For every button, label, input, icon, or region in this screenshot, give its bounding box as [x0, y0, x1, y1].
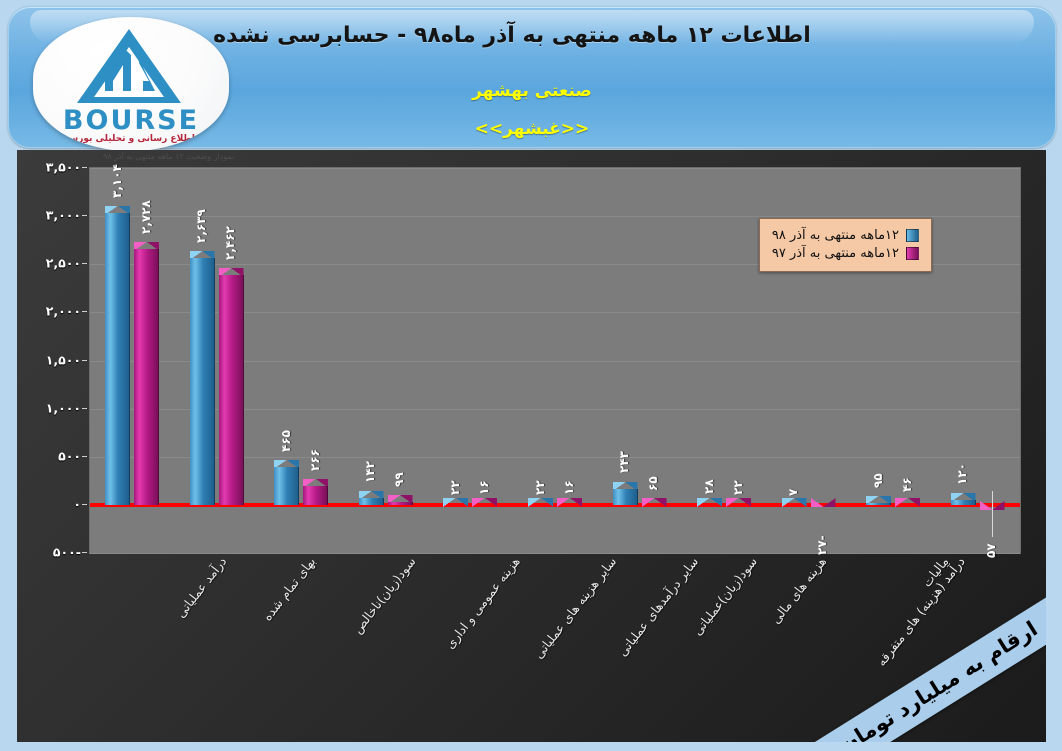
company-name: صنعتی بهشهر	[9, 81, 1055, 101]
bar-body	[219, 275, 244, 505]
bar-body	[613, 489, 638, 505]
bar[interactable]	[726, 498, 751, 505]
y-axis-tick-label: ۱,۰۰۰	[46, 400, 81, 415]
bar-value-label: ۴۶	[900, 478, 914, 493]
x-axis-tick-label: سایر درآمدهای عملیاتی	[615, 554, 702, 659]
bar-cap	[557, 498, 582, 507]
bar[interactable]	[443, 498, 468, 505]
legend-swatch-magenta-icon	[906, 247, 919, 260]
bar-value-label: ۱۶	[562, 481, 576, 496]
legend-item-series-98[interactable]: ۱۲ماهه منتهی به آذر ۹۸	[772, 228, 919, 243]
bar-value-label: ۲۴۳	[617, 452, 631, 474]
y-axis-tick-label: ۳,۰۰۰	[46, 208, 81, 223]
x-axis-tick-label: سایر هزینه های عملیاتی	[531, 554, 619, 661]
y-axis-tick-label: ۱,۵۰۰	[46, 352, 81, 367]
bar-value-label: -۲۷	[815, 536, 829, 556]
bar-value-label: ۲۸	[702, 480, 716, 495]
y-axis-tick	[82, 456, 87, 457]
y-axis-tick	[82, 215, 87, 216]
x-axis-tick-label: هزینه های مالی	[768, 554, 829, 627]
bar[interactable]	[528, 498, 553, 505]
legend-swatch-blue-icon	[906, 229, 919, 242]
bar[interactable]	[811, 500, 836, 507]
bar[interactable]	[134, 242, 159, 505]
x-axis-tick-label: بهای تمام شده	[259, 554, 318, 624]
bar[interactable]	[274, 460, 299, 505]
page-title: اطلاعات ۱۲ ماهه منتهی به آذر ماه۹۸ - حسا…	[9, 23, 1055, 48]
y-axis-tick-label: ۲,۰۰۰	[46, 304, 81, 319]
legend-label-series-97: ۱۲ماهه منتهی به آذر ۹۷	[772, 246, 899, 261]
bar[interactable]	[613, 482, 638, 505]
y-axis-tick-label: ۳,۵۰۰	[46, 160, 81, 175]
bar-value-label: ۲۶۶	[308, 449, 322, 471]
bar-cap	[697, 498, 722, 507]
bar[interactable]	[105, 206, 130, 505]
y-axis-tick-label: ۰	[73, 496, 81, 511]
bar-value-label: ۳,۱۰۴	[110, 164, 124, 198]
legend-item-series-97[interactable]: ۱۲ماهه منتهی به آذر ۹۷	[772, 246, 919, 261]
bar-value-label: ۲۲	[731, 480, 745, 495]
bar[interactable]	[388, 495, 413, 505]
bar-cap	[811, 498, 836, 507]
y-axis-tick	[82, 360, 87, 361]
x-axis-tick-label: سود(زیان)ناخالص	[350, 554, 419, 636]
x-axis-tick-label: درآمد (هزینه) های متفرقه	[873, 554, 967, 669]
bar-body	[105, 213, 130, 505]
plot-area: ۳,۱۰۴۲,۷۲۸۲,۶۳۹۲,۴۶۲۴۶۵۲۶۶۱۴۲۹۹۲۲۱۶۲۲۱۶۲…	[89, 167, 1021, 554]
y-axis-tick-label: -۵۰۰	[53, 545, 81, 560]
bar-body	[866, 503, 891, 505]
bar-value-label: ۹۹	[392, 473, 406, 488]
bar-cap	[895, 498, 920, 507]
y-axis-tick	[82, 167, 87, 168]
bar[interactable]	[697, 498, 722, 505]
y-axis-tick-label: ۲,۵۰۰	[46, 256, 81, 271]
bar-value-label: ۱۴۲	[363, 461, 377, 483]
bar-cap	[642, 498, 667, 507]
bar-body	[190, 258, 215, 505]
chart-legend: ۱۲ماهه منتهی به آذر ۹۸ ۱۲ماهه منتهی به آ…	[759, 218, 932, 272]
x-axis-tick-label: سود(زیان)عملیاتی	[689, 554, 759, 638]
page-root: BOURSE پایگاه اطلاع رسانی و تحلیلی بورس …	[0, 0, 1062, 751]
bar-body	[359, 498, 384, 505]
bar-cap	[726, 498, 751, 507]
bar[interactable]	[219, 268, 244, 505]
x-axis-tick-label: هزینه عمومی و اداری	[442, 554, 523, 651]
bar[interactable]	[557, 498, 582, 505]
bar-cap	[528, 498, 553, 507]
bar-value-label: ۴۶۵	[279, 430, 293, 452]
bar[interactable]	[782, 498, 807, 505]
bar[interactable]	[895, 498, 920, 505]
bar[interactable]	[190, 251, 215, 505]
x-axis-tick-label: درآمد عملیاتی	[173, 554, 230, 620]
bar[interactable]	[642, 498, 667, 505]
bar[interactable]	[472, 498, 497, 505]
bar-value-label: ۲,۷۲۸	[139, 200, 153, 234]
bar-body	[134, 249, 159, 505]
bar-value-label: ۹۵	[871, 473, 885, 488]
page-header: BOURSE پایگاه اطلاع رسانی و تحلیلی بورس …	[8, 6, 1056, 148]
bar-body	[388, 502, 413, 505]
bar-cap	[443, 498, 468, 507]
gridline	[90, 168, 1020, 169]
legend-label-series-98: ۱۲ماهه منتهی به آذر ۹۸	[772, 228, 899, 243]
bar-value-label: ۲۲	[448, 480, 462, 495]
bar-cap	[782, 498, 807, 507]
y-axis-tick	[82, 408, 87, 409]
x-axis: درآمد عملیاتیبهای تمام شدهسود(زیان)ناخال…	[89, 554, 1019, 734]
bar[interactable]	[866, 496, 891, 505]
bar-value-label: ۶۵	[646, 476, 660, 491]
y-axis-tick	[82, 263, 87, 264]
bar[interactable]	[951, 493, 976, 505]
bar-value-label: ۷	[786, 489, 800, 496]
chart-watermark: نمودار وضعیت ۱۲ ماهه منتهی به آذر ۹۸	[103, 152, 234, 161]
bar-cap	[472, 498, 497, 507]
company-symbol: <<غبشهر>>	[9, 119, 1055, 139]
y-axis-tick	[82, 504, 87, 505]
bar[interactable]	[303, 479, 328, 505]
value-leader-line	[992, 491, 993, 537]
bar-value-label: ۲,۶۳۹	[194, 209, 208, 243]
y-axis: ۳,۵۰۰۳,۰۰۰۲,۵۰۰۲,۰۰۰۱,۵۰۰۱,۰۰۰۵۰۰۰-۵۰۰	[17, 167, 87, 552]
x-axis-tick-label: سود(زیان) خالص	[1025, 554, 1046, 634]
bar[interactable]	[359, 491, 384, 505]
bar-body	[951, 500, 976, 505]
bar-body	[303, 486, 328, 505]
y-axis-tick-label: ۵۰۰	[58, 448, 81, 463]
y-axis-tick	[82, 311, 87, 312]
chart-panel: نمودار وضعیت ۱۲ ماهه منتهی به آذر ۹۸ ۳,۵…	[17, 150, 1046, 742]
bar-body	[274, 467, 299, 505]
bar-value-label: ۲۲	[533, 480, 547, 495]
y-axis-tick	[82, 552, 87, 553]
bar-value-label: ۱۲۰	[955, 463, 969, 485]
bar-value-label: ۱۶	[477, 481, 491, 496]
bar-value-label: ۲,۴۶۲	[223, 226, 237, 260]
gridline	[90, 216, 1020, 217]
